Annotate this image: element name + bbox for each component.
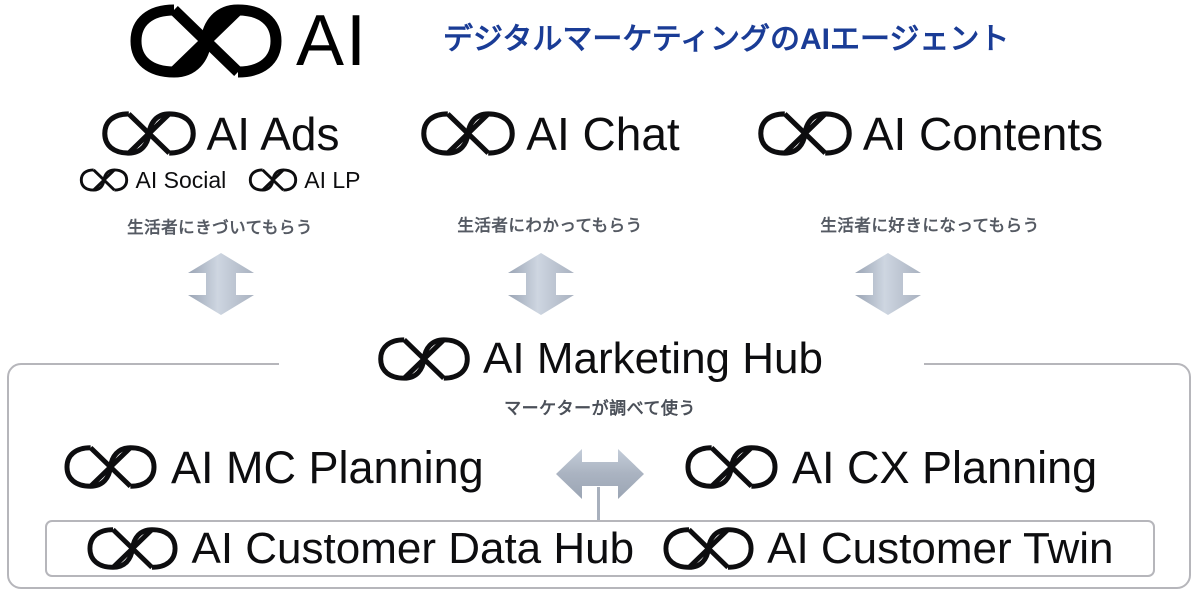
mc-planning: AI MC Planning	[63, 444, 484, 490]
product-title-contents: AI Contents	[700, 110, 1160, 157]
infinity-bowtie-logo-icon	[248, 168, 298, 192]
product-title-ads: AI Ads	[20, 110, 420, 157]
product-label-chat: AI Chat	[526, 111, 679, 157]
product-note-ads: 生活者にきづいてもらう	[20, 214, 420, 238]
product-label-ads: AI Ads	[207, 111, 340, 157]
brand-lockup: AI	[130, 4, 368, 78]
product-column-chat: AI Chat 生活者にわかってもらう	[390, 110, 710, 236]
sub-product-social: AI Social	[79, 168, 226, 192]
double-arrow-horizontal-icon	[556, 449, 644, 499]
double-arrow-vertical-icon	[508, 253, 574, 315]
marketing-hub-label: AI Marketing Hub	[483, 337, 823, 381]
infinity-bowtie-logo-icon	[79, 168, 129, 192]
connector-line	[597, 487, 600, 520]
infinity-bowtie-logo-icon	[101, 110, 197, 157]
infinity-bowtie-logo-icon	[420, 110, 516, 157]
marketing-hub-title: AI Marketing Hub	[0, 336, 1200, 382]
header: AI デジタルマーケティングのAIエージェント	[0, 0, 1200, 96]
tagline: デジタルマーケティングのAIエージェント	[443, 23, 1009, 56]
sub-product-label-social: AI Social	[135, 169, 226, 192]
double-arrow-vertical-icon	[855, 253, 921, 315]
infinity-bowtie-logo-icon	[130, 4, 282, 78]
cx-planning-label: AI CX Planning	[792, 445, 1097, 490]
cx-planning: AI CX Planning	[684, 444, 1097, 490]
customer-twin: AI Customer Twin	[662, 526, 1113, 571]
product-note-contents: 生活者に好きになってもらう	[700, 212, 1160, 236]
product-column-ads: AI Ads AI Social	[20, 110, 420, 238]
infinity-bowtie-logo-icon	[757, 110, 853, 157]
customer-data-hub: AI Customer Data Hub	[86, 526, 634, 571]
sub-product-label-lp: AI LP	[304, 169, 360, 192]
sub-product-lp: AI LP	[248, 168, 360, 192]
customer-twin-label: AI Customer Twin	[767, 527, 1113, 571]
product-note-chat: 生活者にわかってもらう	[390, 212, 710, 236]
product-title-chat: AI Chat	[390, 110, 710, 157]
double-arrow-vertical-icon	[188, 253, 254, 315]
customer-data-bar: AI Customer Data Hub AI Customer Twin	[45, 520, 1155, 577]
mc-planning-label: AI MC Planning	[171, 445, 484, 490]
brand-wordmark: AI	[296, 5, 368, 77]
product-columns: AI Ads AI Social	[0, 110, 1200, 355]
infinity-bowtie-logo-icon	[63, 444, 158, 490]
customer-data-hub-label: AI Customer Data Hub	[191, 527, 634, 571]
infographic-canvas: AI デジタルマーケティングのAIエージェント AI Ads	[0, 0, 1200, 594]
infinity-bowtie-logo-icon	[377, 336, 471, 382]
infinity-bowtie-logo-icon	[684, 444, 779, 490]
infinity-bowtie-logo-icon	[662, 526, 755, 571]
sub-products-ads: AI Social AI LP	[20, 168, 420, 192]
product-column-contents: AI Contents 生活者に好きになってもらう	[700, 110, 1160, 236]
marketing-hub-note: マーケターが調べて使う	[0, 394, 1200, 419]
infinity-bowtie-logo-icon	[86, 526, 179, 571]
product-label-contents: AI Contents	[863, 111, 1103, 157]
